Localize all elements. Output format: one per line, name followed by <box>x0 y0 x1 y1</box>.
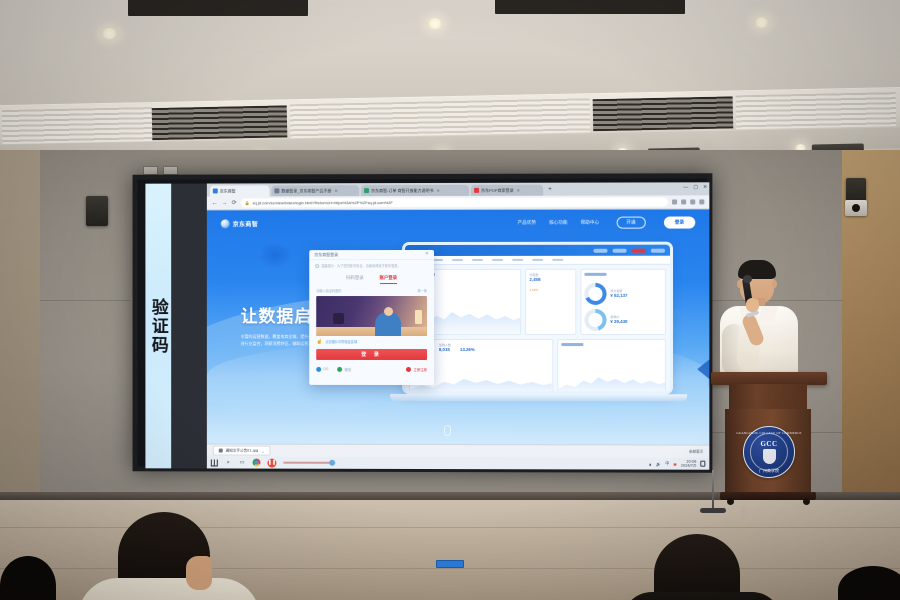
login-modal[interactable]: 京东商智登录 ✕ 温馨提示：为了您的账号安全，请使用商家子账号登录。 扫码登录 … <box>309 250 434 385</box>
dashboard-card: 成交金额 ¥ 52,137 客单价 ¥ 29,430 <box>580 269 666 335</box>
kpi-delta: 4.12% <box>529 288 572 292</box>
vent-slats <box>2 107 153 144</box>
captcha-prompt: 请输入验证码图形 <box>316 288 341 293</box>
presenter <box>716 262 802 382</box>
window-controls[interactable]: — ▢ ✕ <box>683 183 707 191</box>
dashboard-body: 访客数 2,458 4.12% 成交金额 <box>405 265 670 392</box>
browser-window[interactable]: 京东商智 数据智享_京东商智产品手册 ✕ 京东商智-订单 商智开放能力说明书 ✕… <box>207 182 709 469</box>
network-icon[interactable]: ▲ <box>648 461 652 466</box>
minimize-icon[interactable]: — <box>683 183 688 191</box>
kpi-value: 8,015 <box>439 347 451 352</box>
show-all-downloads[interactable]: 全部显示 <box>689 449 704 454</box>
modal-tabs[interactable]: 扫码登录 账户登录 <box>309 275 434 284</box>
address-bar[interactable]: 🔒 sq.jd.com/sc/view/index/login.html?Ret… <box>241 197 668 207</box>
menu-item <box>492 259 503 262</box>
mic-stand <box>712 470 714 510</box>
emblem-ring-text: GUANGZHOU COLLEGE OF COMMERCE <box>736 431 801 435</box>
task-view-icon[interactable]: ▭ <box>239 459 246 466</box>
kpi-value: ¥ 29,430 <box>610 319 627 324</box>
tab-favicon <box>364 188 369 193</box>
info-icon <box>315 264 319 268</box>
social-login-row[interactable]: QQ 微信 立即注册 <box>316 367 427 372</box>
vent-grille-dark <box>593 96 734 131</box>
line-chart <box>558 372 665 394</box>
audience-member-hand <box>186 556 212 590</box>
nav-link-advantages[interactable]: 产品优势 <box>518 220 536 226</box>
captcha-subheader: 请输入验证码图形 换一换 <box>309 284 434 293</box>
topbar-chip <box>613 248 627 252</box>
menu-item <box>472 259 483 262</box>
dashboard-card <box>557 339 666 394</box>
system-tray[interactable]: ▲ 🔊 中 ◉ 20:06 2024/7/5 <box>648 459 705 468</box>
download-file-name: 通知文字公告01.jpg <box>226 448 259 453</box>
podium-caster <box>727 498 734 505</box>
forward-icon[interactable]: → <box>222 200 228 206</box>
register-icon <box>406 367 411 372</box>
downloads-bar[interactable]: 通知文字公告01.jpg ⌄ 全部显示 <box>207 444 709 458</box>
reload-icon[interactable]: ⟳ <box>232 199 237 206</box>
site-logo[interactable]: 京东商智 <box>221 219 258 228</box>
led-wall-gap <box>171 184 207 469</box>
menu-item <box>532 259 543 262</box>
modal-close-icon[interactable]: ✕ <box>425 252 429 257</box>
browser-toolbar[interactable]: ← → ⟳ 🔒 sq.jd.com/sc/view/index/login.ht… <box>207 195 709 210</box>
logo-text: 京东商智 <box>233 219 258 228</box>
url-text: sq.jd.com/sc/view/index/login.html?Retur… <box>253 200 393 205</box>
audience-member-shoulders <box>78 578 260 600</box>
browser-tab[interactable]: 京东商智-订单 商智开放能力说明书 ✕ <box>361 185 469 196</box>
menu-item <box>452 259 463 262</box>
battery-icon[interactable]: ◉ <box>673 461 677 466</box>
microphone-head <box>743 275 752 283</box>
start-button[interactable] <box>211 459 218 466</box>
new-tab-button[interactable]: + <box>545 185 555 196</box>
jd-logo-icon <box>221 219 230 228</box>
tab-title: 京东商智-订单 商智开放能力说明书 <box>371 187 433 193</box>
captcha-hint-text: 点击图片中的验证区域 <box>325 339 357 344</box>
tab-close-icon[interactable]: ✕ <box>334 188 337 193</box>
captcha-hint: ☝ 点击图片中的验证区域 <box>316 339 427 345</box>
presenter-ear <box>772 280 777 288</box>
ceiling-panel-right <box>495 0 685 14</box>
topbar-chip <box>651 248 665 252</box>
tab-title: 数据智享_京东商智产品手册 <box>281 188 331 194</box>
tab-favicon <box>213 188 218 193</box>
site-nav[interactable]: 产品优势 核心功能 帮助中心 开通 登录 <box>518 216 696 229</box>
jd-business-intelligence-page: 京东商智 产品优势 核心功能 帮助中心 开通 登录 让数据启发你的想象力 丰富的… <box>207 209 709 469</box>
menu-item <box>512 259 523 262</box>
register-link[interactable]: 立即注册 <box>406 367 427 372</box>
vent-slats <box>736 92 897 129</box>
podium: GUANGZHOU COLLEGE OF COMMERCE GCC 广州商学院 <box>723 372 815 504</box>
downlight-icon <box>754 17 769 28</box>
ceiling-panel-left <box>128 0 308 16</box>
podium-neck <box>729 384 807 410</box>
close-icon[interactable]: ✕ <box>703 183 707 191</box>
browser-tab-strip[interactable]: 京东商智 数据智享_京东商智产品手册 ✕ 京东商智-订单 商智开放能力说明书 ✕… <box>207 182 709 196</box>
ime-icon[interactable]: 中 <box>665 461 669 467</box>
downlight-icon <box>101 28 118 39</box>
page-blob <box>259 242 293 268</box>
mic-stand-base <box>700 508 726 513</box>
kpi-delta: 13.26% <box>460 347 475 352</box>
captcha-person-head <box>384 307 393 316</box>
notification-icon[interactable] <box>700 461 705 467</box>
register-label: 立即注册 <box>413 367 427 372</box>
downlight-icon <box>427 18 443 29</box>
captcha-refresh[interactable]: 换一换 <box>417 288 427 293</box>
site-header: 京东商智 产品优势 核心功能 帮助中心 开通 登录 <box>207 209 709 236</box>
volume-slider[interactable] <box>283 459 335 466</box>
recorder-icon[interactable]: ❚❚ <box>267 458 276 467</box>
topbar-chip <box>632 248 646 252</box>
dashboard-topbar <box>405 245 670 256</box>
notice-text: 温馨提示：为了您的账号安全，请使用商家子账号登录。 <box>321 264 400 269</box>
menu-icon[interactable] <box>699 199 704 204</box>
maximize-icon[interactable]: ▢ <box>693 183 698 191</box>
dashboard-menu <box>405 256 670 265</box>
windows-taskbar[interactable]: ⌕ ▭ ❚❚ ▲ 🔊 中 ◉ 20:06 <box>207 456 709 469</box>
modal-title: 京东商智登录 <box>314 252 338 258</box>
nav-link-features[interactable]: 核心功能 <box>549 220 567 226</box>
captcha-floor <box>316 327 427 336</box>
tab-favicon <box>274 188 279 193</box>
browser-tab[interactable]: 数据智享_京东商智产品手册 ✕ <box>271 185 359 196</box>
emblem-shield-icon <box>763 449 776 464</box>
activate-button[interactable]: 开通 <box>616 216 645 228</box>
tab-close-icon[interactable]: ✕ <box>517 188 520 193</box>
captcha-lamp <box>415 310 422 324</box>
wechat-label: 微信 <box>344 367 351 372</box>
dashboard-preview-laptop: 访客数 2,458 4.12% 成交金额 <box>402 242 673 395</box>
back-icon[interactable]: ← <box>212 200 218 206</box>
login-button-header[interactable]: 登录 <box>664 217 695 228</box>
tab-qr-login[interactable]: 扫码登录 <box>346 275 364 284</box>
presenter-hand <box>746 298 759 312</box>
tab-title: 京东POP商家登录 <box>481 187 514 193</box>
file-icon <box>219 449 223 453</box>
card-title-bar <box>584 273 606 276</box>
menu-item <box>552 259 563 262</box>
social-login-qq[interactable]: QQ <box>316 367 328 372</box>
floor-socket-plate <box>436 560 464 568</box>
nav-link-help[interactable]: 帮助中心 <box>581 220 599 226</box>
audience-member-shoulders <box>622 592 782 600</box>
topbar-chip <box>593 248 607 252</box>
tab-title: 京东商智 <box>220 188 236 194</box>
clock-date: 2024/7/5 <box>681 464 696 468</box>
qq-label: QQ <box>323 367 328 371</box>
podium-caster <box>803 498 810 505</box>
browser-tab[interactable]: 京东商智 <box>210 185 270 196</box>
search-icon[interactable]: ⌕ <box>225 459 232 466</box>
wechat-icon <box>337 367 342 372</box>
download-item[interactable]: 通知文字公告01.jpg ⌄ <box>213 446 271 456</box>
carousel-next-arrow-icon[interactable] <box>697 356 709 382</box>
wall-speaker <box>86 196 108 226</box>
slider-track <box>283 462 331 463</box>
chevron-down-icon[interactable]: ⌄ <box>261 448 264 453</box>
qq-icon <box>316 367 321 372</box>
tab-favicon <box>474 188 479 193</box>
kpi-value: 2,458 <box>529 277 572 282</box>
tab-account-login[interactable]: 账户登录 <box>380 275 398 284</box>
vent-slats <box>290 98 591 138</box>
dashboard-mockup: 访客数 2,458 4.12% 成交金额 <box>405 245 670 392</box>
lock-icon: 🔒 <box>245 200 250 205</box>
emblem-inner: GCC <box>750 433 788 471</box>
wall-outlet <box>143 166 158 175</box>
volume-icon[interactable]: 🔊 <box>656 461 661 466</box>
captcha-illustration[interactable] <box>316 296 427 336</box>
college-emblem: GUANGZHOU COLLEGE OF COMMERCE GCC 广州商学院 <box>743 426 795 478</box>
slider-knob[interactable] <box>329 460 335 466</box>
social-login-wechat[interactable]: 微信 <box>337 367 351 372</box>
modal-login-button[interactable]: 登 录 <box>316 349 427 360</box>
extensions-icon[interactable] <box>681 199 686 204</box>
modal-notice: 温馨提示：为了您的账号安全，请使用商家子账号登录。 <box>315 264 428 269</box>
star-icon[interactable] <box>672 199 677 204</box>
podium-cable <box>741 505 745 519</box>
emblem-monogram: GCC <box>760 440 777 448</box>
modal-header: 京东商智登录 ✕ <box>309 250 434 260</box>
led-video-wall: 验证码 京东商智 数据智享_京东商智产品手册 ✕ 京东商智-订单 商智开放能力说… <box>133 173 713 473</box>
scroll-indicator-icon <box>444 425 451 436</box>
verification-code-strip: 验证码 <box>145 184 171 469</box>
left-wall-panel <box>0 150 40 500</box>
cursor-icon: ☝ <box>316 339 322 345</box>
download-icon[interactable] <box>690 199 695 204</box>
laptop-base <box>390 394 687 401</box>
donut-chart <box>584 308 606 330</box>
camera-icon <box>845 200 867 216</box>
podium-base <box>720 492 816 500</box>
taskbar-clock[interactable]: 20:06 2024/7/5 <box>681 459 696 468</box>
dashboard-card: 访客数 2,458 4.12% <box>525 269 576 335</box>
lecture-hall-scene: 验证码 京东商智 数据智享_京东商智产品手册 ✕ 京东商智-订单 商智开放能力说… <box>0 0 900 600</box>
tab-close-icon[interactable]: ✕ <box>436 188 439 193</box>
kpi-value: ¥ 52,137 <box>610 293 627 298</box>
verification-code-text: 验证码 <box>146 298 171 355</box>
captcha-puzzle-piece <box>333 313 344 324</box>
chrome-icon[interactable] <box>253 459 261 467</box>
card-title-bar <box>561 343 583 346</box>
donut-chart <box>584 282 606 304</box>
vent-grille-dark <box>152 105 288 140</box>
browser-tab[interactable]: 京东POP商家登录 ✕ <box>471 185 543 196</box>
emblem-chinese-name: 广州商学院 <box>759 468 779 474</box>
